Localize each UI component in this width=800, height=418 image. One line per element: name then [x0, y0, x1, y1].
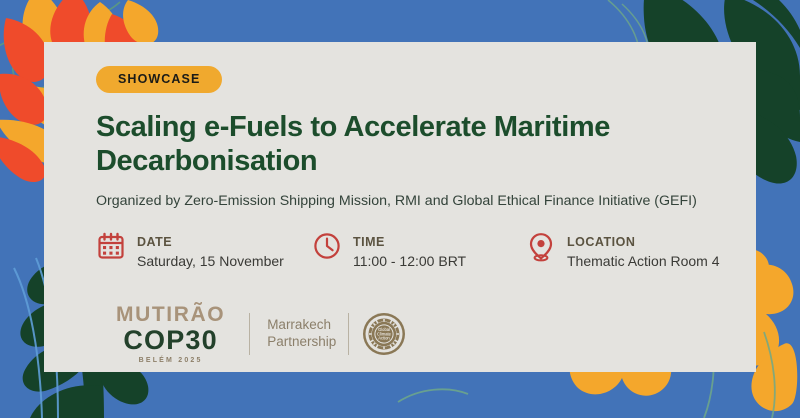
card-content: SHOWCASE Scaling e-Fuels to Accelerate M…	[96, 66, 730, 272]
location-icon	[526, 232, 556, 266]
event-title: Scaling e-Fuels to Accelerate Maritime D…	[96, 110, 696, 178]
detail-time: TIME 11:00 - 12:00 BRT	[312, 232, 526, 272]
global-climate-action-seal-icon: Global Climate Action	[361, 311, 407, 357]
detail-time-value: 11:00 - 12:00 BRT	[353, 252, 466, 272]
logo-divider-1	[249, 313, 250, 355]
cop30-belem-text: BELÉM 2025	[116, 357, 225, 364]
detail-time-text: TIME 11:00 - 12:00 BRT	[353, 232, 466, 272]
logo-divider-2	[348, 313, 349, 355]
logo-strip: MUTIRÃO COP30 BELÉM 2025 Marrakech Partn…	[116, 304, 407, 364]
cop30-logo: MUTIRÃO COP30 BELÉM 2025	[116, 304, 225, 364]
detail-date: DATE Saturday, 15 November	[96, 232, 312, 272]
marrakech-partnership-logo: Marrakech Partnership	[267, 317, 336, 351]
detail-location-text: LOCATION Thematic Action Room 4	[567, 232, 720, 272]
marrakech-line-1: Marrakech	[267, 317, 336, 334]
detail-location-value: Thematic Action Room 4	[567, 252, 720, 272]
event-organizers: Organized by Zero-Emission Shipping Miss…	[96, 192, 730, 210]
cop30-mutirao-text: MUTIRÃO	[116, 304, 225, 325]
cop30-text: COP30	[116, 326, 225, 354]
detail-location: LOCATION Thematic Action Room 4	[526, 232, 720, 272]
detail-date-text: DATE Saturday, 15 November	[137, 232, 284, 272]
detail-date-label: DATE	[137, 235, 172, 249]
detail-time-label: TIME	[353, 235, 385, 249]
calendar-icon	[96, 232, 126, 266]
detail-date-value: Saturday, 15 November	[137, 252, 284, 272]
detail-location-label: LOCATION	[567, 235, 635, 249]
event-card: SHOWCASE Scaling e-Fuels to Accelerate M…	[44, 42, 756, 372]
showcase-badge: SHOWCASE	[96, 66, 222, 93]
clock-icon	[312, 232, 342, 266]
event-poster: SHOWCASE Scaling e-Fuels to Accelerate M…	[0, 0, 800, 418]
marrakech-line-2: Partnership	[267, 334, 336, 351]
event-details-row: DATE Saturday, 15 November TIME 11:0	[96, 232, 730, 272]
seal-text-line-3: Action	[379, 336, 391, 341]
